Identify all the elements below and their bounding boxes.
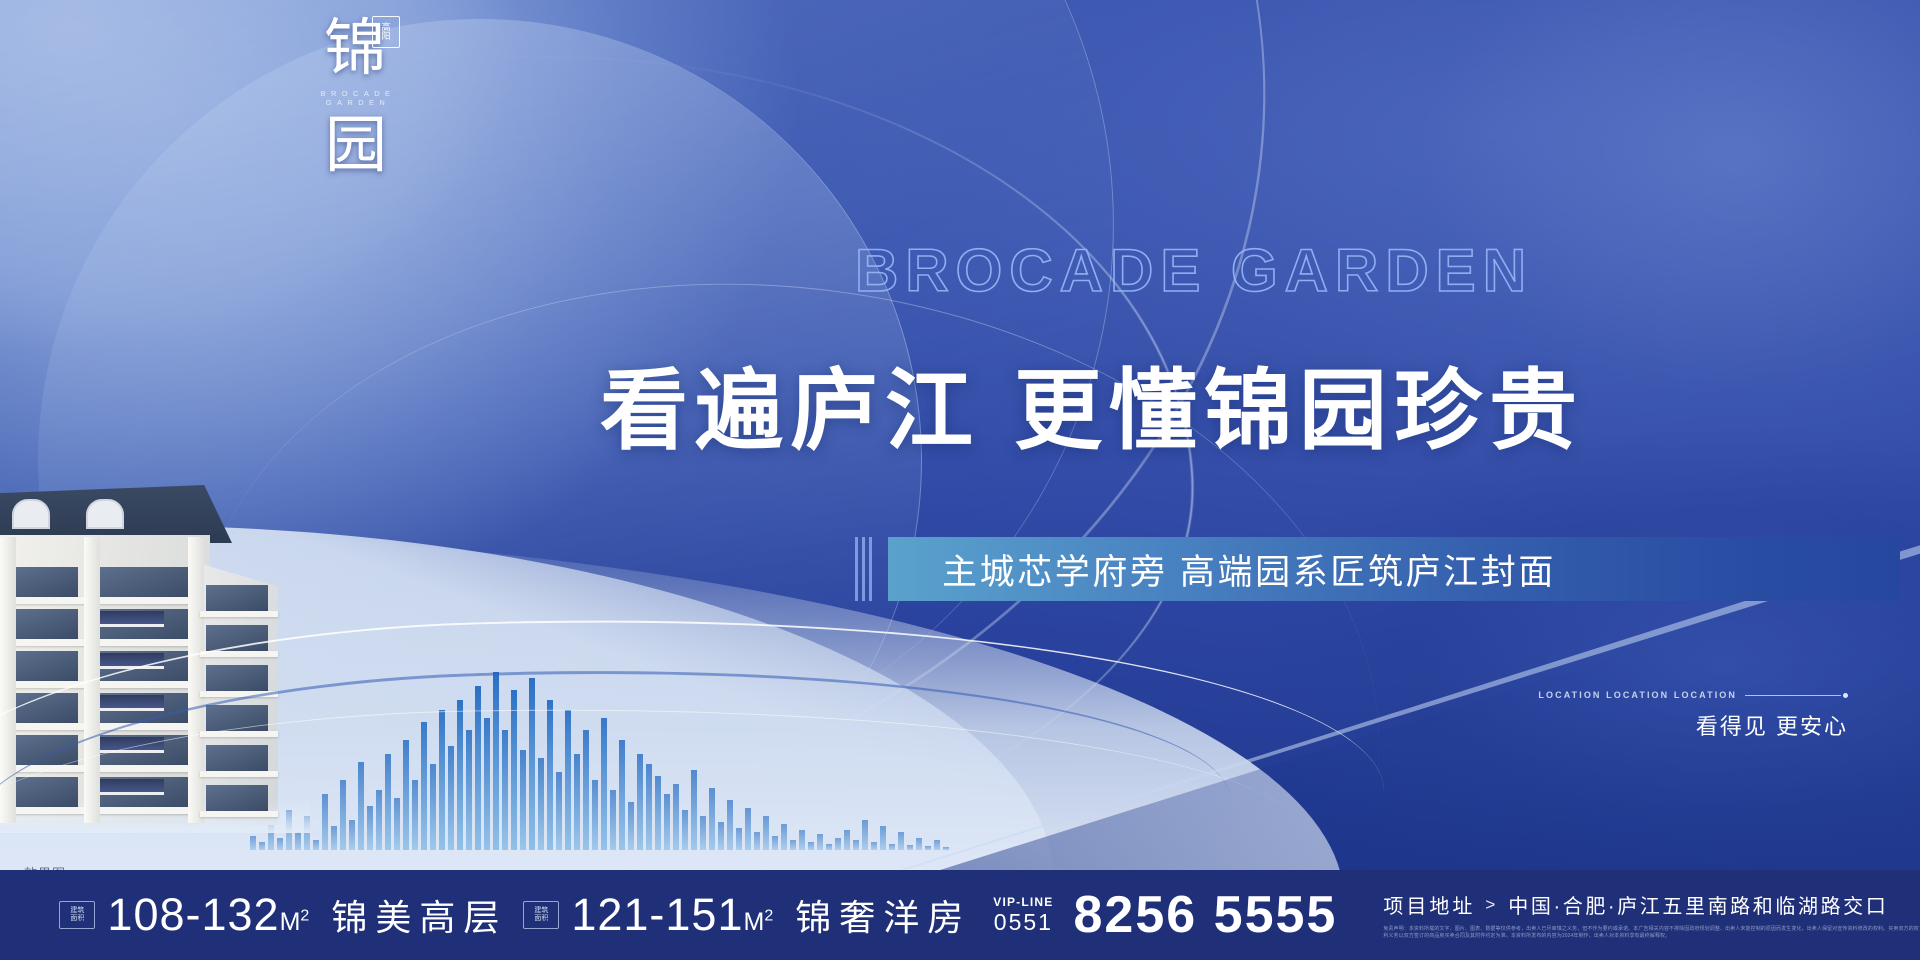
address-row: 项目地址 > 中国·合肥·庐江五里南路和临湖路交口 <box>1383 890 1920 919</box>
address-value: 中国·合肥·庐江五里南路和临湖路交口 <box>1508 890 1888 919</box>
phone-number[interactable]: 8256 5555 <box>1074 885 1338 945</box>
hero-subtitle: 主城芯学府旁 高端园系匠筑庐江封面 <box>942 544 1556 595</box>
dormer-window <box>12 499 50 529</box>
logo-char-bottom: 园 <box>286 115 426 177</box>
logo-english: BROCADE GARDEN <box>290 89 426 107</box>
location-tag-english-row: LOCATION LOCATION LOCATION <box>1538 690 1848 700</box>
subtitle-accent-bars <box>855 537 885 601</box>
brand-logo: 锦 高 阳 BROCADE GARDEN 园 <box>286 18 426 177</box>
legal-fineprint: 免责声明：本资料所载的文字、图片、图表、数据等仅供参考，出卖人已尽审慎之义务，但… <box>1383 926 1920 940</box>
logo-seal-icon: 高 阳 <box>372 16 400 48</box>
building-ledge <box>4 639 200 646</box>
vip-line-block: VIP-LINE 0551 <box>993 895 1053 936</box>
address-label: 项目地址 <box>1383 890 1475 919</box>
location-tag: LOCATION LOCATION LOCATION 看得见 更安心 <box>1538 690 1848 741</box>
unit2-area-badge: 建筑 面积 <box>523 901 559 929</box>
unit1-area: 108-132M2 <box>107 889 309 941</box>
hero-headline-left: 看遍庐江 <box>600 364 980 461</box>
building-window <box>12 651 78 681</box>
dormer-window <box>86 499 124 529</box>
unit1-area-badge: 建筑 面积 <box>59 901 95 929</box>
hero-headline-right: 更懂锦园珍贵 <box>1014 364 1584 461</box>
unit2-name: 锦奢洋房 <box>795 889 971 941</box>
building-window <box>96 567 192 597</box>
location-dot-icon <box>1843 693 1848 698</box>
building-ledge <box>200 611 278 617</box>
hero-headline: 看遍庐江更懂锦园珍贵 <box>600 340 1584 467</box>
building-window <box>206 585 268 611</box>
vip-area-code: 0551 <box>993 909 1053 936</box>
hero-english-title: BROCADE GARDEN <box>855 236 1533 305</box>
building-window <box>12 609 78 639</box>
building-ledge <box>4 597 200 604</box>
address-arrow-icon: > <box>1485 895 1498 915</box>
hero-subtitle-band: 主城芯学府旁 高端园系匠筑庐江封面 <box>888 537 1900 601</box>
logo-char-top: 锦 高 阳 <box>286 18 426 80</box>
building-awning <box>100 611 164 627</box>
building-window <box>12 567 78 597</box>
bottom-info-bar: 建筑 面积 108-132M2 锦美高层 建筑 面积 121-151M2 锦奢洋… <box>0 870 1920 960</box>
unit2-area: 121-151M2 <box>571 889 773 941</box>
address-block: 项目地址 > 中国·合肥·庐江五里南路和临湖路交口 免责声明：本资料所载的文字、… <box>1383 890 1920 940</box>
unit1-name: 锦美高层 <box>331 889 507 941</box>
poster-canvas: 锦 高 阳 BROCADE GARDEN 园 BROCADE GARDEN 看遍… <box>0 0 1920 960</box>
location-tag-chinese: 看得见 更安心 <box>1538 709 1848 741</box>
vip-line-label: VIP-LINE <box>993 895 1053 909</box>
location-tag-english: LOCATION LOCATION LOCATION <box>1538 690 1737 700</box>
location-rule-line <box>1745 695 1841 696</box>
